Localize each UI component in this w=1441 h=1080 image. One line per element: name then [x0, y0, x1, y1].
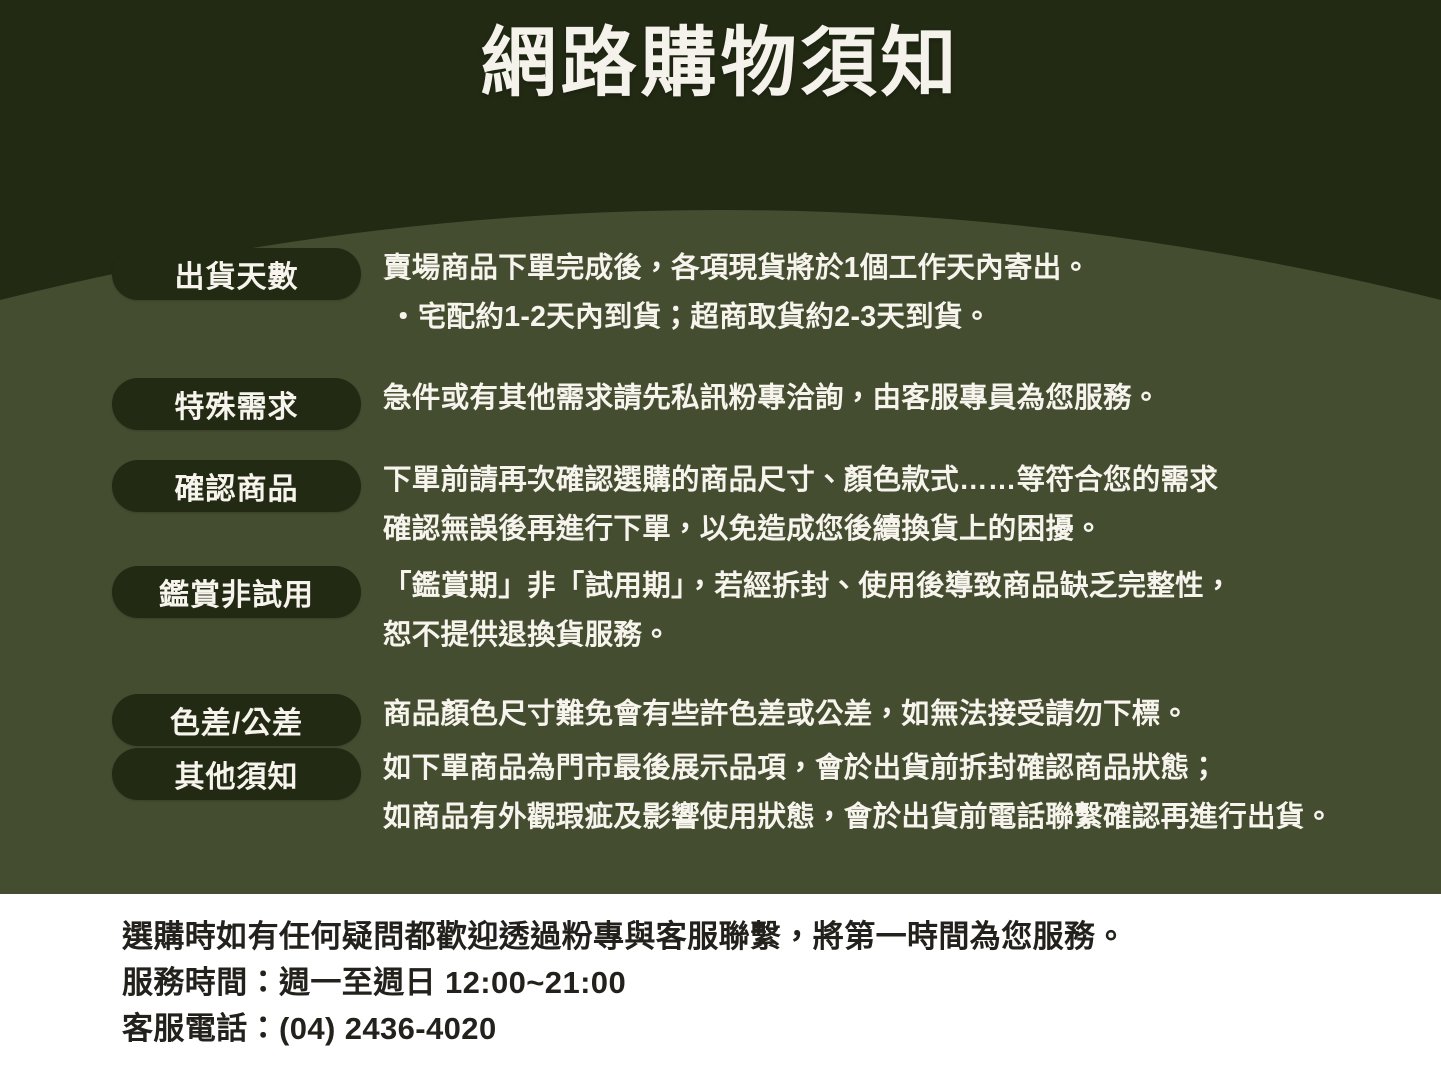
notice-row-confirm-product: 確認商品 下單前請再次確認選購的商品尺寸、顏色款式……等符合您的需求 確認無誤後… [0, 460, 1441, 554]
section-body-special-request: 急件或有其他需求請先私訊粉專洽詢，由客服專員為您服務。 [361, 374, 1441, 423]
footer-contact-block: 選購時如有任何疑問都歡迎透過粉專與客服聯繫，將第一時間為您服務。 服務時間：週一… [0, 894, 1441, 1080]
body-line: 如商品有外觀瑕疵及影響使用狀態，會於出貨前電話聯繫確認再進行出貨。 [383, 793, 1441, 842]
notice-row-special-request: 特殊需求 急件或有其他需求請先私訊粉專洽詢，由客服專員為您服務。 [0, 378, 1441, 430]
footer-line-service-message: 選購時如有任何疑問都歡迎透過粉專與客服聯繫，將第一時間為您服務。 [122, 914, 1441, 960]
notice-poster: 網路購物須知 出貨天數 賣場商品下單完成後，各項現貨將於1個工作天內寄出。 ・宅… [0, 0, 1441, 1080]
section-body-shipping-days: 賣場商品下單完成後，各項現貨將於1個工作天內寄出。 ・宅配約1-2天內到貨；超商… [361, 244, 1441, 342]
footer-line-service-phone: 客服電話：(04) 2436-4020 [122, 1006, 1441, 1052]
section-body-color-tolerance: 商品顏色尺寸難免會有些許色差或公差，如無法接受請勿下標。 [361, 690, 1441, 739]
notice-row-inspection-period: 鑑賞非試用 「鑑賞期」非「試用期」，若經拆封、使用後導致商品缺乏完整性， 恕不提… [0, 566, 1441, 660]
section-label-other-notes: 其他須知 [112, 748, 361, 800]
body-line: 急件或有其他需求請先私訊粉專洽詢，由客服專員為您服務。 [383, 374, 1441, 423]
page-title: 網路購物須知 [481, 24, 961, 104]
body-line: ・宅配約1-2天內到貨；超商取貨約2-3天到貨。 [383, 293, 1441, 342]
row-spacer [0, 342, 1441, 378]
notice-row-shipping-days: 出貨天數 賣場商品下單完成後，各項現貨將於1個工作天內寄出。 ・宅配約1-2天內… [0, 248, 1441, 342]
section-label-inspection-period: 鑑賞非試用 [112, 566, 361, 618]
page-title-wrap: 網路購物須知 [0, 24, 1441, 104]
body-line: 如下單商品為門市最後展示品項，會於出貨前拆封確認商品狀態； [383, 744, 1441, 793]
section-body-other-notes: 如下單商品為門市最後展示品項，會於出貨前拆封確認商品狀態； 如商品有外觀瑕疵及影… [361, 744, 1441, 842]
section-label-special-request: 特殊需求 [112, 378, 361, 430]
section-label-shipping-days: 出貨天數 [112, 248, 361, 300]
notice-section-list: 出貨天數 賣場商品下單完成後，各項現貨將於1個工作天內寄出。 ・宅配約1-2天內… [0, 248, 1441, 842]
footer-line-service-hours: 服務時間：週一至週日 12:00~21:00 [122, 960, 1441, 1006]
row-spacer [0, 660, 1441, 694]
section-label-confirm-product: 確認商品 [112, 460, 361, 512]
body-line: 確認無誤後再進行下單，以免造成您後續換貨上的困擾。 [383, 505, 1441, 554]
body-line: 「鑑賞期」非「試用期」，若經拆封、使用後導致商品缺乏完整性， [383, 562, 1441, 611]
section-label-color-tolerance: 色差/公差 [112, 694, 361, 746]
section-body-inspection-period: 「鑑賞期」非「試用期」，若經拆封、使用後導致商品缺乏完整性， 恕不提供退換貨服務… [361, 562, 1441, 660]
notice-row-color-tolerance: 色差/公差 商品顏色尺寸難免會有些許色差或公差，如無法接受請勿下標。 [0, 694, 1441, 746]
body-line: 下單前請再次確認選購的商品尺寸、顏色款式……等符合您的需求 [383, 456, 1441, 505]
body-line: 恕不提供退換貨服務。 [383, 611, 1441, 660]
notice-row-other-notes: 其他須知 如下單商品為門市最後展示品項，會於出貨前拆封確認商品狀態； 如商品有外… [0, 748, 1441, 842]
section-body-confirm-product: 下單前請再次確認選購的商品尺寸、顏色款式……等符合您的需求 確認無誤後再進行下單… [361, 456, 1441, 554]
body-line: 商品顏色尺寸難免會有些許色差或公差，如無法接受請勿下標。 [383, 690, 1441, 739]
body-line: 賣場商品下單完成後，各項現貨將於1個工作天內寄出。 [383, 244, 1441, 293]
